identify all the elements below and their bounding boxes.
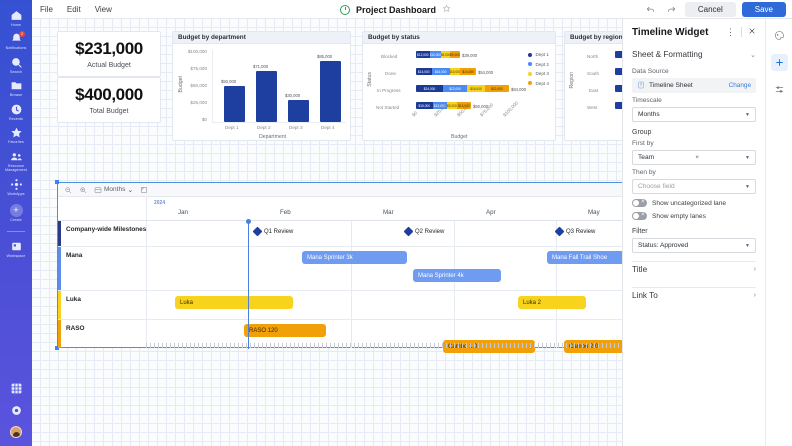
lane-color-stripe bbox=[58, 320, 61, 348]
milestone-q1-review[interactable]: Q1 Review bbox=[254, 228, 293, 235]
grid-icon[interactable] bbox=[10, 382, 23, 395]
page-title: Project Dashboard bbox=[356, 5, 436, 15]
axis-line bbox=[212, 122, 346, 123]
lane-label: Mana bbox=[66, 252, 82, 259]
metric-value: $231,000 bbox=[75, 39, 143, 59]
y-axis-title: Status bbox=[367, 72, 373, 87]
diamond-icon bbox=[253, 227, 263, 237]
timescale-select[interactable]: Months ▼ bbox=[632, 107, 756, 122]
search-icon bbox=[10, 56, 23, 69]
legend-swatch bbox=[528, 62, 532, 66]
sidebar-item-label: Browse bbox=[10, 93, 23, 97]
toggle-label: Show uncategorized lane bbox=[652, 200, 726, 207]
save-button[interactable]: Save bbox=[742, 2, 786, 17]
folder-icon bbox=[10, 79, 23, 92]
chevron-down-icon: ▼ bbox=[745, 184, 750, 190]
sidebar-item-label: WorkApps bbox=[7, 192, 24, 196]
bar-value-label: $85,000 bbox=[317, 54, 332, 59]
section-sheet-formatting[interactable]: Sheet & Formatting ⌄ bbox=[632, 47, 756, 64]
sheet-icon bbox=[637, 80, 645, 92]
bar-value-label: $30,000 bbox=[285, 93, 300, 98]
bar-dept-3[interactable] bbox=[288, 100, 309, 122]
metric-label: Total Budget bbox=[90, 108, 129, 115]
then-by-select[interactable]: Choose field ▼ bbox=[632, 179, 756, 194]
avatar[interactable] bbox=[10, 426, 22, 438]
sidebar-item-create[interactable]: + Create bbox=[0, 201, 32, 224]
toggle-label: Show empty lanes bbox=[652, 213, 706, 220]
chart-title: Budget by status bbox=[363, 32, 555, 44]
legend-swatch bbox=[528, 53, 532, 57]
stacked-bar-blocked[interactable]: $12,000 $10,000 $8,000 $9,000 bbox=[416, 51, 460, 58]
segment-dept-4: $22,000 bbox=[485, 85, 509, 92]
milestone-label: Q1 Review bbox=[264, 229, 293, 235]
resize-handle-top-left[interactable] bbox=[55, 180, 59, 184]
stacked-bar-in-progress[interactable]: $24,000 $22,000 $16,000 $22,000 bbox=[416, 85, 509, 92]
metric-card-actual-budget[interactable]: $231,000 Actual Budget bbox=[57, 31, 161, 77]
sidebar-item-notifications[interactable]: 2 Notifications bbox=[0, 29, 32, 52]
close-icon[interactable] bbox=[748, 26, 756, 38]
bar-dept-2[interactable] bbox=[256, 71, 277, 122]
first-by-value: Team bbox=[638, 154, 654, 161]
then-by-label: Then by bbox=[632, 169, 756, 176]
diamond-icon bbox=[555, 227, 565, 237]
sidebar-item-label: Resource Management bbox=[1, 164, 32, 173]
panel-header-actions: ⋮ bbox=[726, 26, 756, 38]
timescale-label: Months bbox=[104, 186, 125, 193]
x-tick-label: Dept 4 bbox=[321, 125, 335, 130]
data-source-name: Timeline Sheet bbox=[649, 82, 693, 89]
top-toolbar-actions: Cancel Save bbox=[643, 2, 792, 17]
month-label: Apr bbox=[486, 209, 496, 216]
toggle-row-uncategorized-lane[interactable]: Show uncategorized lane bbox=[632, 199, 756, 207]
first-by-label: First by bbox=[632, 140, 756, 147]
segment-dept-1: $12,000 bbox=[416, 51, 430, 58]
bar-dept-4[interactable] bbox=[320, 61, 341, 122]
sidebar-item-label: Notifications bbox=[6, 46, 27, 50]
more-vertical-icon[interactable]: ⋮ bbox=[726, 28, 735, 37]
x-tick-label: Dept 2 bbox=[257, 125, 271, 130]
y-tick-label: $0 bbox=[202, 117, 207, 122]
lane-label: Company-wide Milestones bbox=[66, 226, 146, 233]
segment-dept-3: $16,000 bbox=[467, 85, 485, 92]
month-label: May bbox=[588, 209, 600, 216]
metric-label: Actual Budget bbox=[87, 62, 131, 69]
legend-swatch bbox=[528, 81, 532, 85]
first-by-select[interactable]: Team × ▼ bbox=[632, 150, 756, 165]
chart-plot-area: $100,000 $75,000 $50,000 $25,000 $0 Budg… bbox=[173, 44, 350, 140]
panel-header: Timeline Widget ⋮ bbox=[632, 26, 756, 38]
chart-title: Budget by department bbox=[173, 32, 350, 44]
chart-budget-by-department[interactable]: Budget by department $100,000 $75,000 $5… bbox=[172, 31, 351, 141]
panel-title: Timeline Widget bbox=[632, 27, 708, 38]
x-axis-title: Department bbox=[259, 134, 286, 140]
lane-label: Luka bbox=[66, 296, 81, 303]
segment-dept-3: $10,000 bbox=[450, 68, 461, 75]
plus-icon[interactable] bbox=[771, 54, 788, 71]
sidebar-item-workspace[interactable]: Workspace bbox=[0, 237, 32, 260]
month-label: Feb bbox=[280, 209, 291, 216]
toggle-row-empty-lanes[interactable]: Show empty lanes bbox=[632, 212, 756, 220]
axis-line bbox=[212, 50, 213, 122]
sidebar-divider bbox=[7, 231, 25, 232]
milestone-q3-review[interactable]: Q3 Review bbox=[556, 228, 595, 235]
metric-card-total-budget[interactable]: $400,000 Total Budget bbox=[57, 77, 161, 123]
y-tick-label: South bbox=[587, 71, 599, 76]
right-toolbar bbox=[765, 19, 792, 446]
segment-dept-4: $14,000 bbox=[460, 68, 476, 75]
diamond-icon bbox=[404, 227, 414, 237]
y-tick-label: Not Started bbox=[376, 105, 399, 110]
sliders-icon[interactable] bbox=[771, 81, 788, 98]
people-icon bbox=[10, 150, 23, 163]
chevron-down-icon: ⌄ bbox=[750, 51, 756, 59]
bar-dept-1[interactable] bbox=[224, 86, 245, 122]
segment-dept-2: $10,000 bbox=[430, 51, 441, 58]
legend-swatch bbox=[528, 72, 532, 76]
x-tick-label: Dept 3 bbox=[289, 125, 303, 130]
bar-total-label: $84,000 bbox=[511, 87, 526, 92]
chevron-down-icon: ▼ bbox=[745, 243, 750, 249]
zoom-in-icon[interactable] bbox=[79, 186, 87, 194]
x-tick-label: Dept 1 bbox=[225, 125, 239, 130]
undo-icon[interactable] bbox=[643, 2, 658, 17]
segment-dept-1: $15,000 bbox=[416, 102, 433, 109]
then-by-placeholder: Choose field bbox=[638, 183, 675, 190]
top-toolbar: Project Dashboard Cancel Save bbox=[340, 0, 792, 19]
section-link-to[interactable]: Link To › bbox=[632, 288, 756, 305]
task-bar-luka[interactable]: Luka bbox=[175, 296, 293, 309]
bar-total-label: $39,000 bbox=[462, 53, 477, 58]
y-tick-label: $75,000 bbox=[190, 66, 207, 71]
chevron-down-icon: ▼ bbox=[745, 112, 750, 118]
x-tick-label: $100,000 bbox=[502, 100, 519, 117]
y-tick-label: North bbox=[587, 54, 598, 59]
zoom-out-icon[interactable] bbox=[64, 186, 72, 194]
segment-dept-4: $9,000 bbox=[450, 51, 460, 58]
chevron-down-icon: ⌄ bbox=[127, 186, 133, 194]
chart-plot-area: Status Blocked $12,000 $10,000 $8,000 $9… bbox=[363, 44, 555, 140]
bar-value-label: $71,000 bbox=[253, 64, 268, 69]
y-tick-label: $25,000 bbox=[190, 100, 207, 105]
sidebar-item-label: Recents bbox=[9, 117, 23, 121]
sidebar-item-home[interactable]: Home bbox=[0, 6, 32, 29]
metric-value: $400,000 bbox=[75, 85, 143, 105]
x-tick-label: $0 bbox=[411, 110, 418, 117]
redo-icon[interactable] bbox=[664, 2, 679, 17]
y-tick-label: $50,000 bbox=[190, 83, 207, 88]
timescale-dropdown[interactable]: Months ⌄ bbox=[94, 186, 133, 194]
cancel-button[interactable]: Cancel bbox=[685, 2, 736, 17]
left-sidebar: Home 2 Notifications Search Browse Recen… bbox=[0, 0, 32, 446]
sidebar-item-label: Create bbox=[10, 218, 21, 222]
y-tick-label: In Progress bbox=[377, 88, 401, 93]
section-label: Title bbox=[632, 265, 647, 274]
app-window: Home 2 Notifications Search Browse Recen… bbox=[0, 0, 792, 446]
lane-color-stripe bbox=[58, 247, 61, 290]
task-bar-raso-120[interactable]: RASO 120 bbox=[244, 324, 326, 337]
sidebar-item-recents[interactable]: Recents bbox=[0, 100, 32, 123]
menu-edit[interactable]: Edit bbox=[67, 5, 81, 14]
apps-icon bbox=[10, 178, 23, 191]
task-bar-luka-2[interactable]: Luka 2 bbox=[518, 296, 586, 309]
task-bar-mana-sprinter-4k[interactable]: Mana Sprinter 4k bbox=[413, 269, 501, 282]
gear-icon[interactable] bbox=[10, 404, 23, 417]
bar-value-label: $50,000 bbox=[221, 79, 236, 84]
segment-dept-3: $8,000 bbox=[441, 51, 450, 58]
legend-label: Dept 1 bbox=[535, 52, 549, 57]
sidebar-item-resource-management[interactable]: Resource Management bbox=[0, 147, 32, 175]
y-tick-label: East bbox=[589, 88, 598, 93]
toggle-show-uncategorized-lane[interactable] bbox=[632, 199, 647, 207]
clock-icon bbox=[10, 103, 23, 116]
legend-item[interactable]: Dept 2 bbox=[528, 62, 549, 67]
data-source-label: Data Source bbox=[632, 68, 756, 75]
section-label: Link To bbox=[632, 291, 658, 300]
clear-icon[interactable]: × bbox=[695, 154, 699, 161]
x-axis-title: Budget bbox=[451, 134, 467, 140]
sidebar-item-search[interactable]: Search bbox=[0, 53, 32, 76]
menu-file[interactable]: File bbox=[40, 5, 53, 14]
today-marker-line bbox=[248, 221, 249, 349]
lane-column-divider bbox=[146, 197, 147, 220]
lane-color-stripe bbox=[58, 291, 61, 319]
lane-label: RASO bbox=[66, 325, 84, 332]
chevron-right-icon: › bbox=[754, 266, 756, 273]
workspace-icon bbox=[10, 240, 23, 253]
milestone-label: Q3 Review bbox=[566, 229, 595, 235]
data-source-row[interactable]: Timeline Sheet Change bbox=[632, 78, 756, 93]
toggle-show-empty-lanes[interactable] bbox=[632, 212, 647, 220]
section-label: Sheet & Formatting bbox=[632, 50, 703, 59]
sidebar-bottom-group bbox=[10, 382, 23, 446]
legend-item[interactable]: Dept 4 bbox=[528, 81, 549, 86]
star-icon bbox=[10, 126, 23, 139]
sidebar-item-label: Workspace bbox=[7, 254, 26, 258]
lane-color-stripe bbox=[58, 221, 61, 246]
milestone-q2-review[interactable]: Q2 Review bbox=[405, 228, 444, 235]
segment-dept-2: $22,000 bbox=[443, 85, 467, 92]
segment-dept-2: $16,000 bbox=[432, 68, 450, 75]
stacked-bar-done[interactable]: $14,000 $16,000 $10,000 $14,000 bbox=[416, 68, 476, 75]
sidebar-item-browse[interactable]: Browse bbox=[0, 76, 32, 99]
sidebar-item-workapps[interactable]: WorkApps bbox=[0, 175, 32, 198]
legend-label: Dept 2 bbox=[535, 62, 549, 67]
sidebar-item-favorites[interactable]: Favorites bbox=[0, 123, 32, 146]
chevron-down-icon: ▼ bbox=[745, 155, 750, 161]
y-tick-label: West bbox=[587, 105, 597, 110]
chevron-right-icon: › bbox=[754, 292, 756, 299]
y-axis-title: Region bbox=[569, 72, 575, 88]
today-marker-dot bbox=[246, 219, 251, 224]
legend-label: Dept 3 bbox=[535, 71, 549, 76]
app-logo-icon bbox=[340, 5, 350, 15]
chart-legend: Dept 1 Dept 2 Dept 3 Dept 4 bbox=[528, 52, 549, 86]
change-data-source-link[interactable]: Change bbox=[729, 82, 751, 89]
y-axis-title: Budget bbox=[178, 76, 184, 92]
palette-icon[interactable] bbox=[771, 27, 788, 44]
group-label: Group bbox=[632, 129, 756, 136]
legend-item[interactable]: Dept 1 bbox=[528, 52, 549, 57]
month-label: Jan bbox=[178, 209, 188, 216]
sidebar-item-label: Home bbox=[11, 23, 21, 27]
month-label: Mar bbox=[383, 209, 394, 216]
y-tick-label: $100,000 bbox=[188, 49, 207, 54]
filter-label: Filter bbox=[632, 228, 756, 235]
plus-icon: + bbox=[10, 204, 23, 217]
segment-dept-1: $14,000 bbox=[416, 68, 432, 75]
filter-select[interactable]: Status: Approved ▼ bbox=[632, 238, 756, 253]
filter-value: Status: Approved bbox=[638, 242, 688, 249]
menu-view[interactable]: View bbox=[95, 5, 112, 14]
fullscreen-icon[interactable] bbox=[140, 186, 148, 194]
legend-label: Dept 4 bbox=[535, 81, 549, 86]
y-tick-label: Blocked bbox=[381, 54, 397, 59]
section-title[interactable]: Title › bbox=[632, 262, 756, 279]
milestone-label: Q2 Review bbox=[415, 229, 444, 235]
sidebar-item-label: Favorites bbox=[8, 140, 24, 144]
home-icon bbox=[10, 9, 23, 22]
chart-budget-by-status[interactable]: Budget by status Status Blocked $12,000 … bbox=[362, 31, 556, 141]
timescale-value: Months bbox=[638, 111, 660, 118]
sidebar-item-label: Search bbox=[10, 70, 22, 74]
task-bar-mana-sprinter-3k[interactable]: Mana Sprinter 3k bbox=[302, 251, 407, 264]
star-outline-icon[interactable] bbox=[442, 4, 451, 16]
notification-badge: 2 bbox=[19, 31, 25, 37]
panel-divider bbox=[741, 27, 742, 37]
bar-total-label: $54,000 bbox=[478, 70, 493, 75]
segment-dept-1: $24,000 bbox=[416, 85, 443, 92]
legend-item[interactable]: Dept 3 bbox=[528, 71, 549, 76]
timescale-label: Timescale bbox=[632, 97, 756, 104]
timeline-widget-panel: Timeline Widget ⋮ Sheet & Formatting ⌄ D… bbox=[622, 19, 765, 446]
y-tick-label: Done bbox=[385, 71, 396, 76]
timeline-year: 2024 bbox=[154, 200, 165, 206]
